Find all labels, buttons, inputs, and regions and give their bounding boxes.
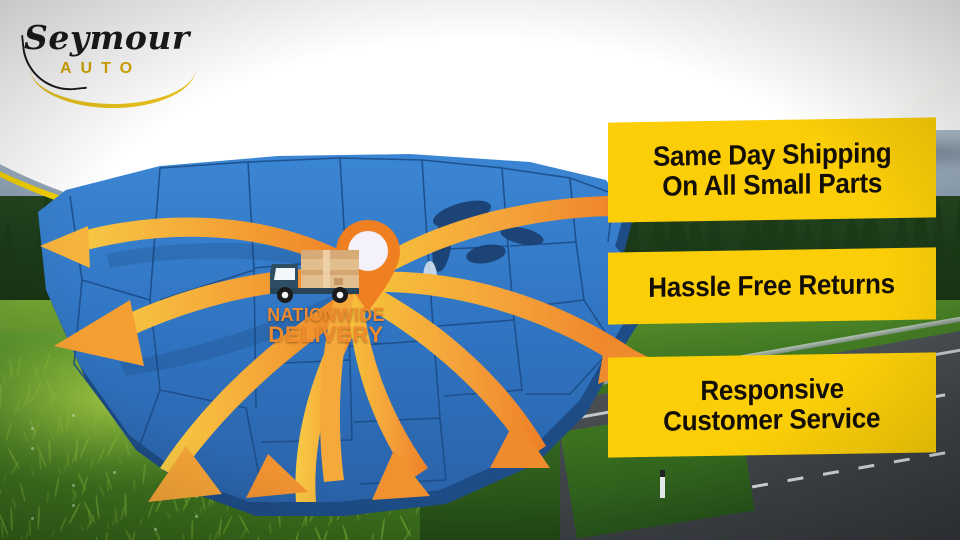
- callout-line: On All Small Parts: [662, 168, 882, 201]
- callout-hassle-free-returns[interactable]: Hassle Free Returns: [608, 247, 936, 324]
- callout-line: Customer Service: [664, 403, 881, 436]
- callout-line: Hassle Free Returns: [649, 269, 896, 303]
- callout-responsive-customer-service[interactable]: Responsive Customer Service: [608, 352, 936, 457]
- promo-banner: Seymour AUTO: [0, 0, 960, 540]
- callout-box-group: Same Day Shipping On All Small Parts Has…: [0, 0, 960, 540]
- callout-line: Responsive: [700, 374, 843, 406]
- callout-same-day-shipping[interactable]: Same Day Shipping On All Small Parts: [608, 117, 936, 222]
